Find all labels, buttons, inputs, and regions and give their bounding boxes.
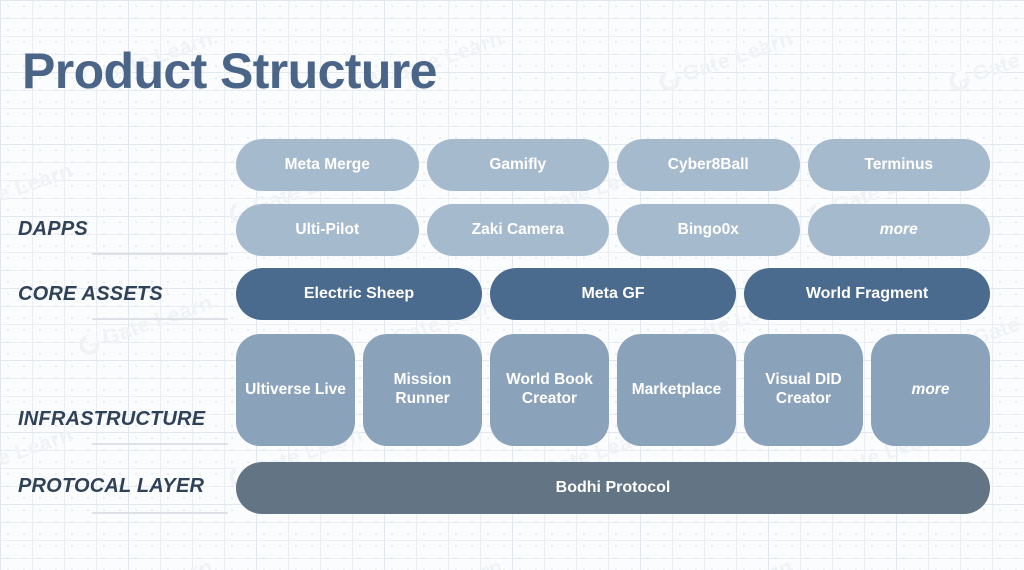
- product-card-infrastructure-more[interactable]: more: [871, 334, 990, 446]
- product-card-label: Visual DID Creator: [750, 371, 857, 409]
- watermark-text: Gate Learn: [970, 555, 1024, 570]
- row-label-core-assets: CORE ASSETS: [18, 283, 163, 306]
- product-card-label: World Fragment: [806, 284, 928, 304]
- product-card-visual-did-creator[interactable]: Visual DID Creator: [744, 334, 863, 446]
- gate-logo-icon: [947, 68, 972, 93]
- watermark-text: Gate Learn: [970, 27, 1024, 87]
- product-card-world-book-creator[interactable]: World Book Creator: [490, 334, 609, 446]
- product-card-terminus[interactable]: Terminus: [808, 139, 991, 191]
- product-card-cyber8ball[interactable]: Cyber8Ball: [617, 139, 800, 191]
- row-divider-infrastructure: [92, 443, 228, 445]
- product-card-meta-merge[interactable]: Meta Merge: [236, 139, 419, 191]
- product-card-label: Ultiverse Live: [245, 381, 346, 400]
- product-card-world-fragment[interactable]: World Fragment: [744, 268, 990, 320]
- watermark: Gate Learn: [656, 555, 796, 570]
- watermark: Gate Learn: [76, 555, 216, 570]
- product-card-label: Zaki Camera: [472, 221, 564, 240]
- watermark-text: Gate Learn: [100, 555, 216, 570]
- row-label-infrastructure: INFRASTRUCTURE: [18, 408, 205, 431]
- row-divider-core-assets: [92, 318, 228, 320]
- product-card-label: more: [880, 221, 918, 240]
- slide-canvas: Gate LearnGate LearnGate LearnGate Learn…: [0, 0, 1024, 570]
- product-card-bingo0x[interactable]: Bingo0x: [617, 204, 800, 256]
- product-card-label: Bingo0x: [678, 221, 739, 240]
- page-title: Product Structure: [22, 46, 437, 96]
- product-card-label: Mission Runner: [369, 371, 476, 409]
- product-card-marketplace[interactable]: Marketplace: [617, 334, 736, 446]
- row-label-protocal-layer: PROTOCAL LAYER: [18, 475, 204, 498]
- product-card-ulti-pilot[interactable]: Ulti-Pilot: [236, 204, 419, 256]
- gate-logo-icon: [77, 332, 102, 357]
- product-card-label: Marketplace: [632, 381, 722, 400]
- row-label-dapps: DAPPS: [18, 218, 88, 241]
- product-card-dapps-more[interactable]: more: [808, 204, 991, 256]
- product-card-label: World Book Creator: [496, 371, 603, 409]
- product-card-label: Gamifly: [489, 156, 546, 175]
- watermark-text: Gate Learn: [390, 555, 506, 570]
- product-card-zaki-camera[interactable]: Zaki Camera: [427, 204, 610, 256]
- watermark-text: Gate Learn: [680, 27, 796, 87]
- row-divider-protocal-layer: [92, 512, 228, 514]
- product-card-gamifly[interactable]: Gamifly: [427, 139, 610, 191]
- product-card-mission-runner[interactable]: Mission Runner: [363, 334, 482, 446]
- watermark-text: Gate Learn: [680, 555, 796, 570]
- watermark: Gate Learn: [366, 555, 506, 570]
- product-card-ultiverse-live[interactable]: Ultiverse Live: [236, 334, 355, 446]
- watermark-text: Gate Learn: [0, 159, 76, 219]
- row-divider-dapps: [92, 253, 228, 255]
- product-card-meta-gf[interactable]: Meta GF: [490, 268, 736, 320]
- watermark: Gate Learn: [946, 555, 1024, 570]
- product-card-label: Terminus: [864, 156, 933, 175]
- product-card-label: Meta GF: [581, 284, 644, 304]
- watermark: Gate Learn: [946, 27, 1024, 95]
- gate-logo-icon: [657, 68, 682, 93]
- product-card-label: Electric Sheep: [304, 284, 414, 304]
- product-card-label: Cyber8Ball: [668, 156, 749, 175]
- product-card-label: more: [912, 381, 950, 400]
- product-card-label: Meta Merge: [285, 156, 370, 175]
- product-card-label: Bodhi Protocol: [556, 478, 671, 498]
- watermark: Gate Learn: [656, 27, 796, 95]
- product-card-label: Ulti-Pilot: [295, 221, 359, 240]
- product-card-bodhi-protocol[interactable]: Bodhi Protocol: [236, 462, 990, 514]
- product-card-electric-sheep[interactable]: Electric Sheep: [236, 268, 482, 320]
